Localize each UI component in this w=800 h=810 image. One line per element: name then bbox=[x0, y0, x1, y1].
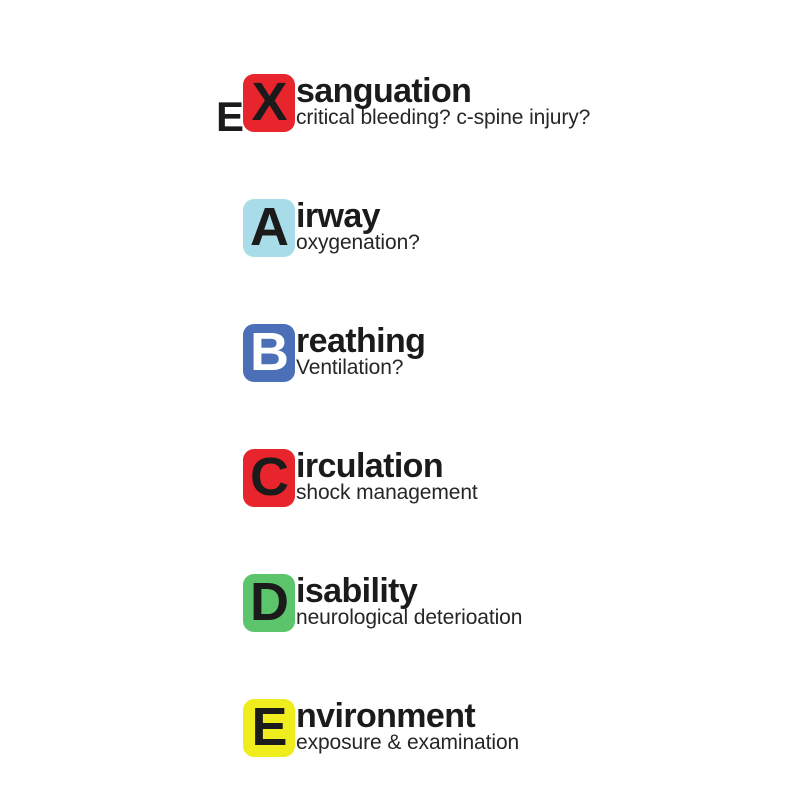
tile-letter: D bbox=[250, 575, 288, 629]
row-title: reathing bbox=[296, 322, 796, 360]
row-subtitle: neurological deterioation bbox=[296, 607, 796, 629]
letter-tile-c: C bbox=[243, 449, 295, 507]
mnemonic-row: Airwayoxygenation? bbox=[0, 185, 800, 310]
letter-tile-x: X bbox=[243, 74, 295, 132]
letter-tile-a: A bbox=[243, 199, 295, 257]
row-title: nvironment bbox=[296, 697, 796, 735]
row-subtitle: critical bleeding? c-spine injury? bbox=[296, 107, 796, 129]
row-subtitle: exposure & examination bbox=[296, 732, 796, 754]
mnemonic-row: Disabilityneurological deterioation bbox=[0, 560, 800, 685]
row-text-block: reathingVentilation? bbox=[296, 322, 796, 379]
tile-letter: E bbox=[251, 700, 286, 754]
row-subtitle: Ventilation? bbox=[296, 357, 796, 379]
letter-tile-b: B bbox=[243, 324, 295, 382]
letter-tile-d: D bbox=[243, 574, 295, 632]
tile-letter: A bbox=[250, 200, 288, 254]
row-title: irway bbox=[296, 197, 796, 235]
row-title: irculation bbox=[296, 447, 796, 485]
row-subtitle: shock management bbox=[296, 482, 796, 504]
row-text-block: sanguationcritical bleeding? c-spine inj… bbox=[296, 72, 796, 129]
row-text-block: nvironmentexposure & examination bbox=[296, 697, 796, 754]
row-title: sanguation bbox=[296, 72, 796, 110]
tile-letter: C bbox=[250, 450, 288, 504]
tile-letter: B bbox=[250, 325, 288, 379]
mnemonic-row: EXsanguationcritical bleeding? c-spine i… bbox=[0, 60, 800, 185]
row-subtitle: oxygenation? bbox=[296, 232, 796, 254]
letter-tile-e: E bbox=[243, 699, 295, 757]
mnemonic-row: Circulationshock management bbox=[0, 435, 800, 560]
mnemonic-row: Environmentexposure & examination bbox=[0, 685, 800, 810]
row-text-block: irwayoxygenation? bbox=[296, 197, 796, 254]
mnemonic-row: BreathingVentilation? bbox=[0, 310, 800, 435]
mnemonic-sheet: EXsanguationcritical bleeding? c-spine i… bbox=[0, 0, 800, 800]
row-title: isability bbox=[296, 572, 796, 610]
row-prefix-letter: E bbox=[216, 96, 244, 138]
tile-letter: X bbox=[251, 75, 286, 129]
row-text-block: irculationshock management bbox=[296, 447, 796, 504]
row-text-block: isabilityneurological deterioation bbox=[296, 572, 796, 629]
